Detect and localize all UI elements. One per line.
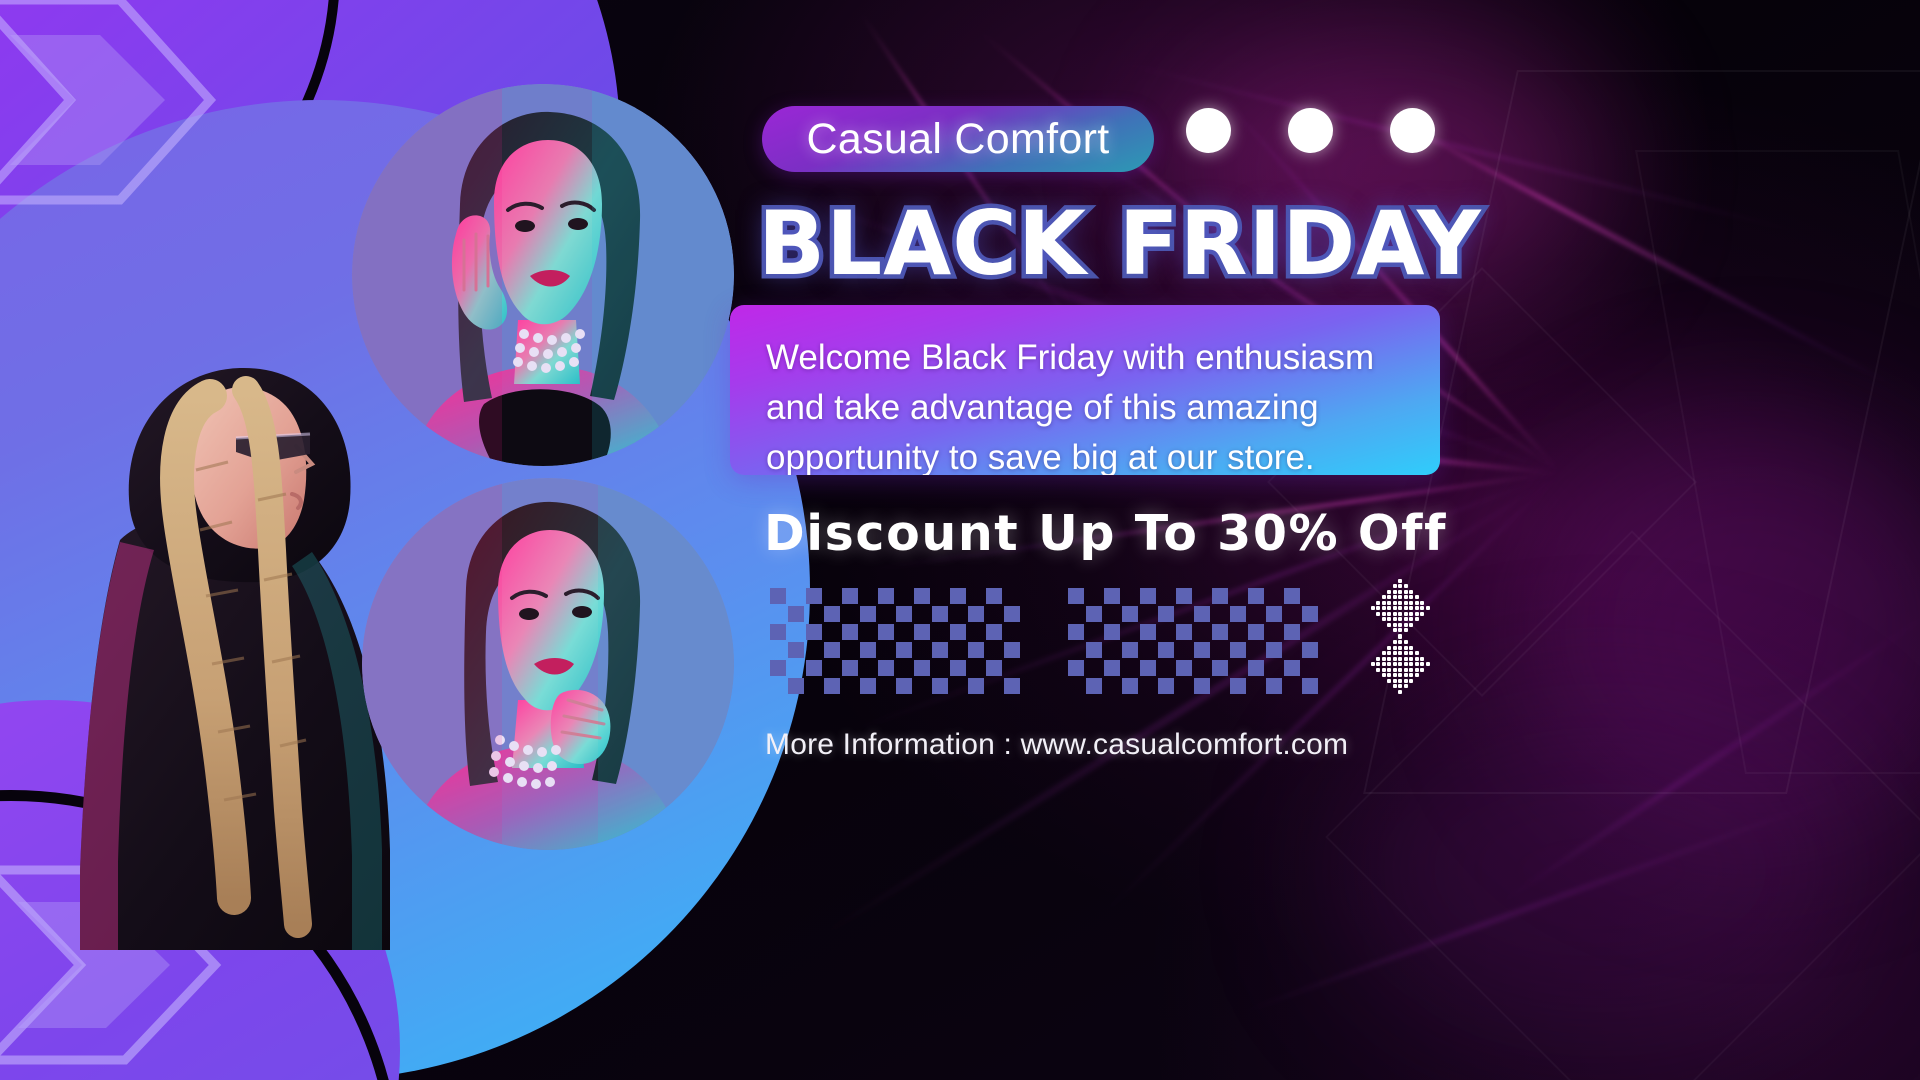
diamond-dot — [1404, 606, 1408, 610]
diamond-dot — [1409, 590, 1413, 594]
diamond-dot — [1398, 584, 1402, 588]
diamond-dot — [1420, 668, 1424, 672]
diamond-dot — [1382, 657, 1386, 661]
diamond-dot-cluster — [1366, 578, 1432, 690]
checker-square — [1302, 642, 1318, 658]
diamond-dot — [1393, 651, 1397, 655]
diamond-dot — [1387, 651, 1391, 655]
checker-square — [932, 678, 948, 694]
checker-pattern-left — [770, 588, 1020, 688]
diamond-dot — [1398, 617, 1402, 621]
diamond-dot — [1382, 606, 1386, 610]
diamond-dot — [1398, 612, 1402, 616]
diamond-dot — [1387, 595, 1391, 599]
diamond-dot — [1420, 662, 1424, 666]
diamond-dot — [1387, 590, 1391, 594]
checker-square — [1086, 606, 1102, 622]
diamond-dot — [1415, 662, 1419, 666]
checker-square — [1158, 642, 1174, 658]
diamond-dot — [1382, 662, 1386, 666]
checker-square — [950, 660, 966, 676]
diamond-dot — [1393, 595, 1397, 599]
checker-square — [1212, 660, 1228, 676]
diamond-dot — [1393, 584, 1397, 588]
discount-text: Discount Up To 30% Off — [764, 505, 1447, 562]
diamond-dot — [1398, 690, 1402, 694]
diamond-dot — [1409, 595, 1413, 599]
diamond-dot — [1404, 651, 1408, 655]
diamond-dot — [1409, 673, 1413, 677]
diamond-dot — [1387, 662, 1391, 666]
checker-square — [1158, 678, 1174, 694]
diamond-dot — [1404, 662, 1408, 666]
diamond-dot — [1393, 684, 1397, 688]
diamond-dot — [1409, 606, 1413, 610]
diamond-dot — [1404, 684, 1408, 688]
checker-square — [1140, 588, 1156, 604]
diamond-dot — [1404, 612, 1408, 616]
diamond-dot — [1409, 651, 1413, 655]
diamond-dot — [1409, 679, 1413, 683]
diamond-dot — [1404, 673, 1408, 677]
diamond-dot — [1404, 590, 1408, 594]
diamond-dot — [1415, 617, 1419, 621]
checker-square — [950, 588, 966, 604]
more-information: More Information : www.casualcomfort.com — [765, 728, 1348, 762]
checker-square — [1122, 678, 1138, 694]
diamond-dot — [1426, 606, 1430, 610]
diamond-dot — [1404, 584, 1408, 588]
diamond-dot — [1404, 657, 1408, 661]
diamond-dot — [1398, 662, 1402, 666]
diamond-dot — [1409, 617, 1413, 621]
checker-square — [1230, 642, 1246, 658]
checker-square — [1302, 606, 1318, 622]
diamond-dot — [1393, 646, 1397, 650]
diamond-dot — [1409, 623, 1413, 627]
diamond-dot — [1387, 657, 1391, 661]
diamond-dot — [1404, 628, 1408, 632]
brand-badge-label: Casual Comfort — [807, 115, 1110, 164]
checker-square — [1194, 678, 1210, 694]
diamond-dot — [1387, 612, 1391, 616]
checker-square — [1104, 624, 1120, 640]
page-title: BLACK FRIDAY — [758, 192, 1482, 295]
diamond-dot — [1415, 668, 1419, 672]
diamond-dot — [1404, 601, 1408, 605]
diamond-dot — [1387, 673, 1391, 677]
checker-square — [896, 642, 912, 658]
checker-square — [860, 606, 876, 622]
diamond-dot — [1382, 612, 1386, 616]
checker-square — [1068, 588, 1084, 604]
diamond-dot — [1398, 590, 1402, 594]
diamond-dot — [1398, 606, 1402, 610]
diamond-dot — [1398, 651, 1402, 655]
checker-square — [860, 642, 876, 658]
diamond-dot — [1371, 606, 1375, 610]
diamond-dot — [1404, 623, 1408, 627]
diamond-dot — [1387, 606, 1391, 610]
diamond-dot — [1404, 668, 1408, 672]
checker-square — [986, 624, 1002, 640]
diamond-dot — [1393, 590, 1397, 594]
checker-square — [842, 660, 858, 676]
checker-square — [1176, 660, 1192, 676]
checker-square — [1248, 624, 1264, 640]
checker-square — [896, 606, 912, 622]
checker-square — [1004, 642, 1020, 658]
checker-square — [1104, 660, 1120, 676]
diamond-dot — [1398, 595, 1402, 599]
promo-message-line-3: opportunity to save big at our store. — [766, 438, 1315, 475]
diamond-dot — [1398, 657, 1402, 661]
promo-message-line-2: and take advantage of this amazing — [766, 388, 1319, 427]
checker-square — [914, 660, 930, 676]
checker-square — [1194, 642, 1210, 658]
dot-2 — [1288, 108, 1333, 153]
checker-square — [824, 642, 840, 658]
checker-square — [950, 624, 966, 640]
checker-square — [968, 606, 984, 622]
checker-pattern-right — [1068, 588, 1312, 688]
model-portrait-top — [352, 84, 734, 466]
diamond-dot — [1415, 601, 1419, 605]
diamond-dot — [1404, 679, 1408, 683]
diamond-dot — [1393, 657, 1397, 661]
diamond-dot — [1387, 617, 1391, 621]
checker-square — [1194, 606, 1210, 622]
diamond-dot — [1393, 612, 1397, 616]
checker-square — [878, 624, 894, 640]
diamond-dot — [1387, 646, 1391, 650]
diamond-dot — [1382, 595, 1386, 599]
checker-square — [1086, 642, 1102, 658]
diamond-dot — [1387, 601, 1391, 605]
promo-message-line-1: Welcome Black Friday with enthusiasm — [766, 338, 1374, 377]
checker-square — [968, 642, 984, 658]
checker-square — [1158, 606, 1174, 622]
diamond-dot — [1404, 640, 1408, 644]
diamond-dot — [1409, 601, 1413, 605]
brand-badge[interactable]: Casual Comfort — [762, 106, 1154, 172]
diamond-dot — [1393, 623, 1397, 627]
diamond-dot — [1393, 606, 1397, 610]
diamond-dot — [1393, 668, 1397, 672]
checker-square — [1266, 606, 1282, 622]
diamond-dot — [1376, 606, 1380, 610]
checker-square — [788, 642, 804, 658]
checker-square — [1266, 642, 1282, 658]
checker-square — [1140, 660, 1156, 676]
checker-square — [806, 624, 822, 640]
checker-square — [1140, 624, 1156, 640]
checker-square — [932, 606, 948, 622]
checker-square — [914, 588, 930, 604]
diamond-dot — [1393, 640, 1397, 644]
diamond-dot — [1398, 601, 1402, 605]
diamond-dot — [1398, 668, 1402, 672]
diamond-dot — [1404, 595, 1408, 599]
checker-square — [1068, 624, 1084, 640]
diamond-dot — [1376, 612, 1380, 616]
checker-square — [1248, 660, 1264, 676]
diamond-dot — [1398, 646, 1402, 650]
diamond-dot — [1409, 612, 1413, 616]
diamond-dot — [1376, 657, 1380, 661]
checker-square — [968, 678, 984, 694]
diamond-dot — [1376, 668, 1380, 672]
diamond-dot — [1404, 617, 1408, 621]
diamond-dot — [1420, 606, 1424, 610]
dot-1 — [1186, 108, 1231, 153]
checker-square — [914, 624, 930, 640]
diamond-dot — [1404, 646, 1408, 650]
dot-3 — [1390, 108, 1435, 153]
diamond-dot — [1398, 673, 1402, 677]
diamond-dot — [1426, 662, 1430, 666]
diamond-dot — [1398, 623, 1402, 627]
checker-square — [878, 588, 894, 604]
checker-square — [1104, 588, 1120, 604]
diamond-dot — [1420, 657, 1424, 661]
checker-square — [932, 642, 948, 658]
checker-square — [1068, 660, 1084, 676]
diamond-dot — [1382, 651, 1386, 655]
checker-square — [1176, 588, 1192, 604]
diamond-dot — [1387, 668, 1391, 672]
diamond-dot — [1382, 617, 1386, 621]
diamond-dot — [1409, 657, 1413, 661]
diamond-dot — [1382, 673, 1386, 677]
checker-square — [1284, 660, 1300, 676]
checker-square — [896, 678, 912, 694]
diamond-dot — [1393, 662, 1397, 666]
diamond-dot — [1415, 673, 1419, 677]
promo-message-box: Welcome Black Friday with enthusiasm and… — [730, 305, 1440, 475]
checker-square — [1248, 588, 1264, 604]
checker-square — [986, 660, 1002, 676]
checker-square — [842, 624, 858, 640]
diamond-dot — [1382, 668, 1386, 672]
model-portrait-bottom — [362, 478, 734, 850]
diamond-dot — [1398, 684, 1402, 688]
checker-square — [842, 588, 858, 604]
diamond-dot — [1376, 662, 1380, 666]
diamond-dot — [1371, 662, 1375, 666]
checker-square — [1284, 588, 1300, 604]
checker-square — [878, 660, 894, 676]
checker-square — [986, 588, 1002, 604]
diamond-dot — [1415, 657, 1419, 661]
checker-square — [788, 678, 804, 694]
checker-square — [824, 606, 840, 622]
diamond-dot — [1415, 606, 1419, 610]
diamond-dot — [1398, 579, 1402, 583]
checker-square — [806, 660, 822, 676]
checker-square — [1004, 678, 1020, 694]
checker-square — [824, 678, 840, 694]
diamond-dot — [1387, 679, 1391, 683]
diamond-dot — [1415, 651, 1419, 655]
diamond-dot — [1393, 601, 1397, 605]
black-friday-banner: Casual Comfort BLACK FRIDAY Welcome Blac… — [0, 0, 1920, 1080]
diamond-dot — [1420, 601, 1424, 605]
diamond-dot — [1415, 595, 1419, 599]
diamond-dot — [1409, 662, 1413, 666]
checker-square — [788, 606, 804, 622]
diamond-dot — [1398, 640, 1402, 644]
diamond-dot — [1376, 601, 1380, 605]
checker-square — [1004, 606, 1020, 622]
diamond-dot — [1387, 623, 1391, 627]
checker-square — [1176, 624, 1192, 640]
diamond-dot — [1393, 617, 1397, 621]
diamond-dot — [1398, 628, 1402, 632]
diamond-dot — [1398, 679, 1402, 683]
diamond-dot — [1393, 679, 1397, 683]
diamond-dot — [1393, 628, 1397, 632]
diamond-dot — [1415, 612, 1419, 616]
diamond-dot — [1382, 601, 1386, 605]
checker-square — [1266, 678, 1282, 694]
checker-square — [1302, 678, 1318, 694]
checker-square — [1122, 642, 1138, 658]
diamond-dot — [1409, 668, 1413, 672]
checker-square — [1212, 624, 1228, 640]
checker-square — [770, 660, 786, 676]
checker-square — [860, 678, 876, 694]
diamond-dot — [1393, 673, 1397, 677]
checker-square — [1086, 678, 1102, 694]
checker-square — [770, 588, 786, 604]
diamond-dot — [1420, 612, 1424, 616]
checker-square — [770, 624, 786, 640]
checker-square — [1122, 606, 1138, 622]
checker-square — [1212, 588, 1228, 604]
diamond-dot — [1409, 646, 1413, 650]
checker-square — [1230, 678, 1246, 694]
checker-square — [806, 588, 822, 604]
checker-square — [1230, 606, 1246, 622]
diamond-dot — [1398, 635, 1402, 639]
checker-square — [1284, 624, 1300, 640]
